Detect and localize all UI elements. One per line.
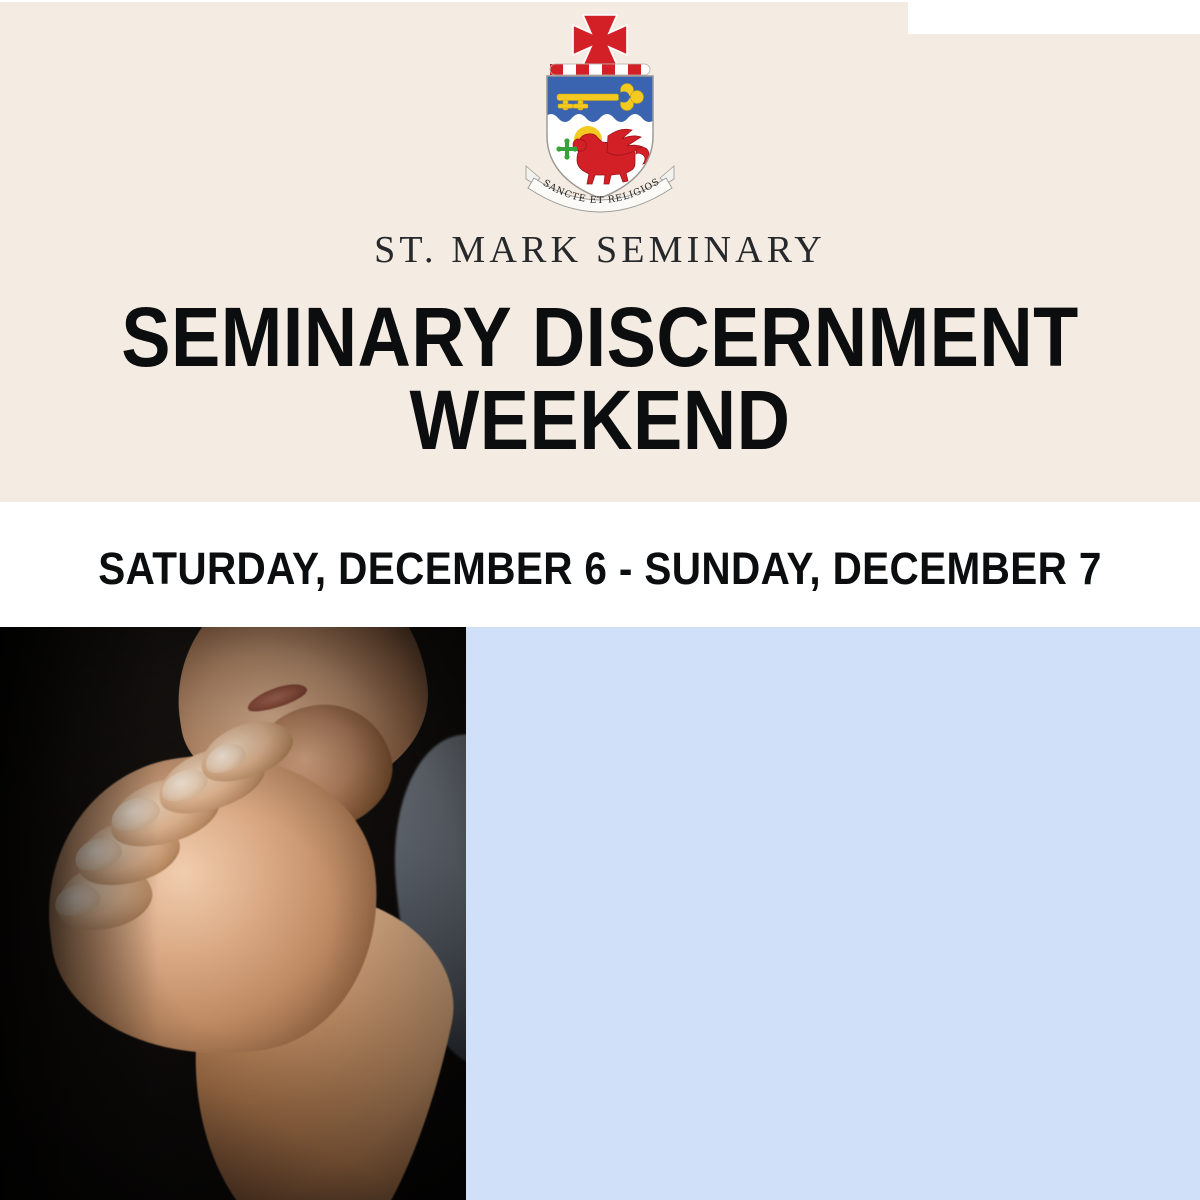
bottom-section: [0, 627, 1200, 1200]
page-title: SEMINARY DISCERNMENT WEEKEND: [72, 296, 1128, 462]
seminary-name: ST. MARK SEMINARY: [0, 228, 1200, 272]
torse-wreath: [550, 64, 650, 75]
top-right-white-notch: [908, 0, 1200, 34]
poster-canvas: STUDETE SANCTE ET RELIGIOSE VIVERE ST. M…: [0, 0, 1200, 1200]
quote-panel-background: [466, 627, 1200, 1200]
cross-pattee-icon: [573, 15, 627, 65]
seminary-crest: STUDETE SANCTE ET RELIGIOSE VIVERE: [500, 8, 700, 220]
praying-hands-photo: [0, 627, 466, 1200]
headline-line-2: WEEKEND: [72, 379, 1128, 462]
photo-vignette: [0, 627, 466, 1200]
event-dates: SATURDAY, DECEMBER 6 - SUNDAY, DECEMBER …: [60, 543, 1140, 595]
shield: [544, 74, 656, 198]
headline-line-1: SEMINARY DISCERNMENT: [72, 296, 1128, 379]
